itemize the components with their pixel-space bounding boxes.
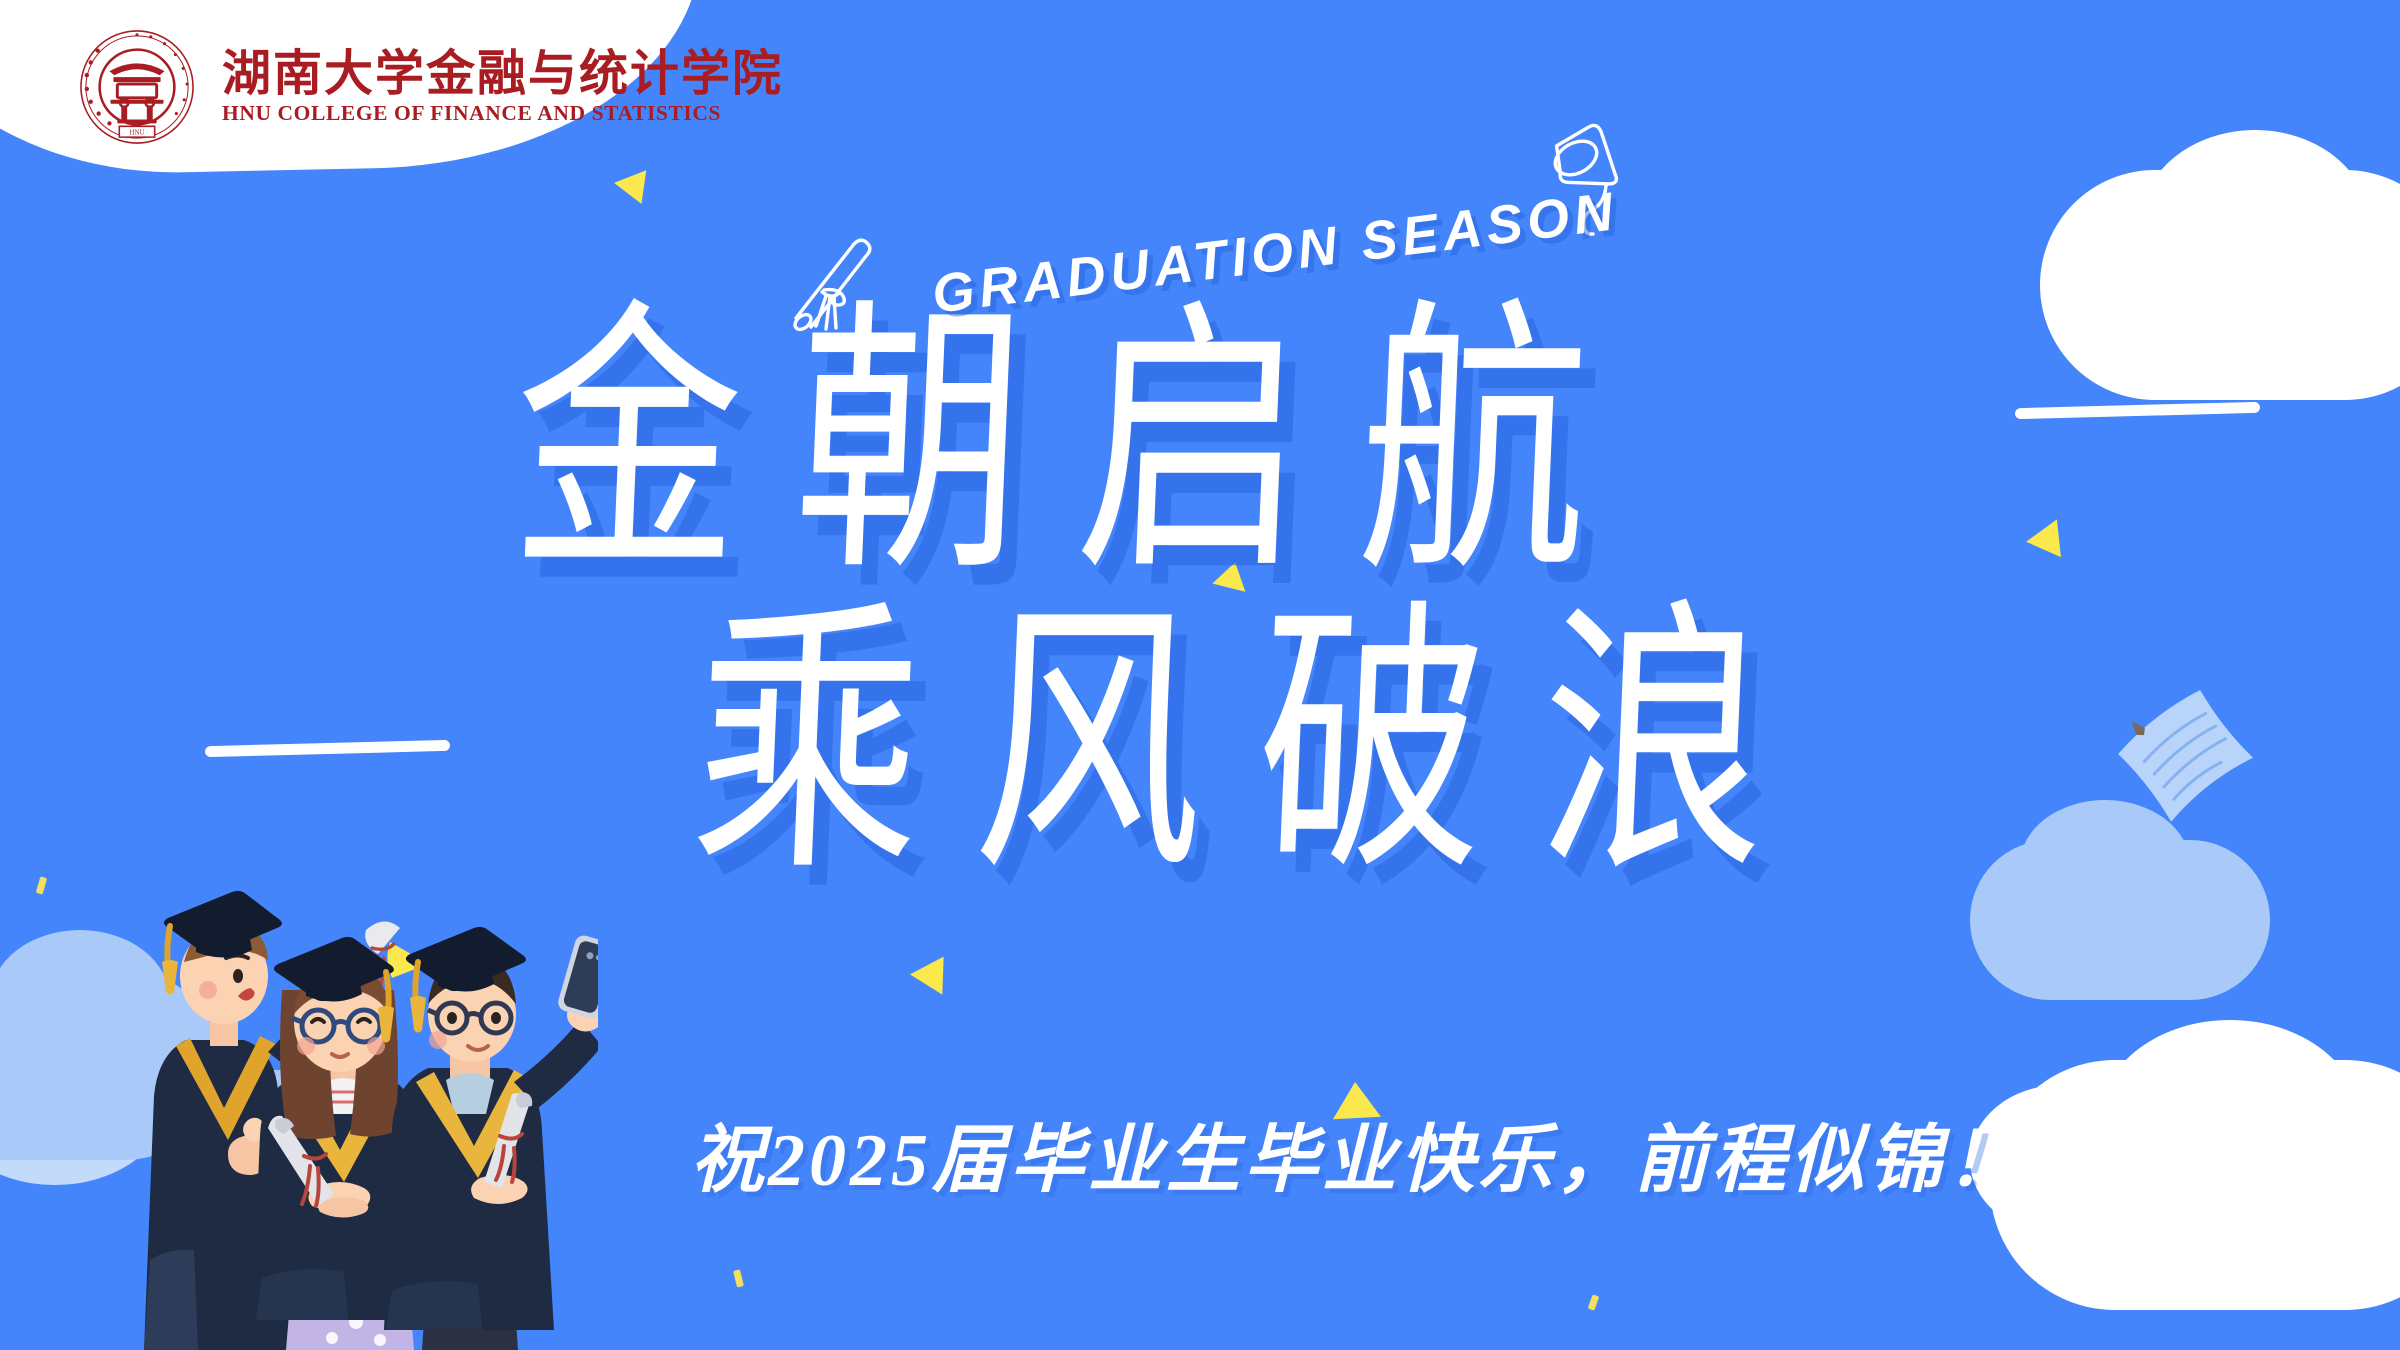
logo-english-name: HNU COLLEGE OF FINANCE AND STATISTICS <box>222 101 783 126</box>
yellow-triangle-3 <box>909 955 943 994</box>
college-logo-lockup: HNU 湖南大学金融与统计学院 HNU COLLEGE OF FINANCE A… <box>78 28 783 146</box>
logo-chinese-name: 湖南大学金融与统计学院 <box>222 48 783 99</box>
logo-text-block: 湖南大学金融与统计学院 HNU COLLEGE OF FINANCE AND S… <box>222 48 783 126</box>
male-graduate-right <box>384 927 598 1350</box>
floating-paper-sheet-icon <box>2100 680 2280 830</box>
smartphone-prop <box>556 933 598 1020</box>
dash-line-right <box>2015 402 2260 419</box>
diploma-scroll-outline-icon <box>770 230 890 340</box>
confetti-fleck-1 <box>36 876 47 894</box>
emblem-ribbon-text: HNU <box>130 130 145 137</box>
three-graduates-selfie <box>128 790 598 1350</box>
graduation-poster: HNU 湖南大学金融与统计学院 HNU COLLEGE OF FINANCE A… <box>0 0 2400 1350</box>
tagline-text: 祝2025届毕业生毕业快乐，前程似锦！ <box>690 1100 2024 1207</box>
yellow-triangle-2 <box>2024 519 2061 560</box>
hnu-crest-gate-emblem: HNU <box>78 28 196 146</box>
confetti-fleck-3 <box>1588 1294 1600 1310</box>
confetti-fleck-2 <box>733 1269 744 1287</box>
headline-line-1: 金朝启航 <box>508 300 1648 587</box>
headline-line-2: 乘风破浪 <box>688 600 1828 887</box>
yellow-triangle-1 <box>612 166 646 204</box>
cloud-top-right-puff <box>2140 130 2370 320</box>
dash-line-left <box>205 740 450 757</box>
